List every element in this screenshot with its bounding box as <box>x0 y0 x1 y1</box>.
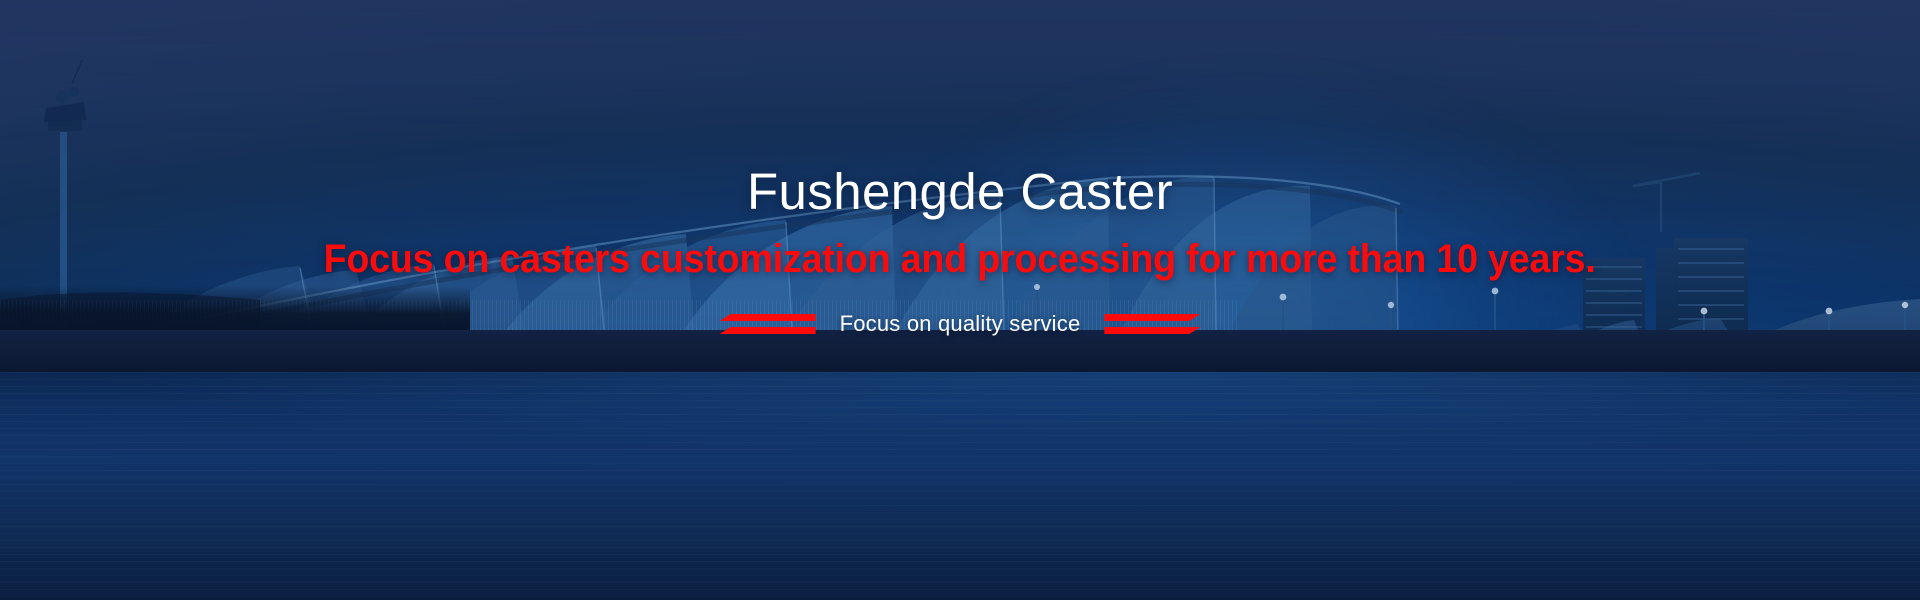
accent-bar <box>720 314 816 321</box>
accent-bar <box>720 327 816 334</box>
banner-tagline: Focus on quality service <box>840 313 1081 335</box>
hero-banner: Fushengde Caster Focus on casters custom… <box>0 0 1920 600</box>
accent-bar <box>1104 314 1200 321</box>
tagline-row: Focus on quality service <box>720 313 1201 335</box>
accent-bar <box>1104 327 1200 334</box>
banner-content: Fushengde Caster Focus on casters custom… <box>0 0 1920 600</box>
left-accent-bars <box>720 314 816 334</box>
banner-title: Fushengde Caster <box>747 166 1173 217</box>
right-accent-bars <box>1104 314 1200 334</box>
banner-subtitle: Focus on casters customization and proce… <box>324 239 1596 279</box>
